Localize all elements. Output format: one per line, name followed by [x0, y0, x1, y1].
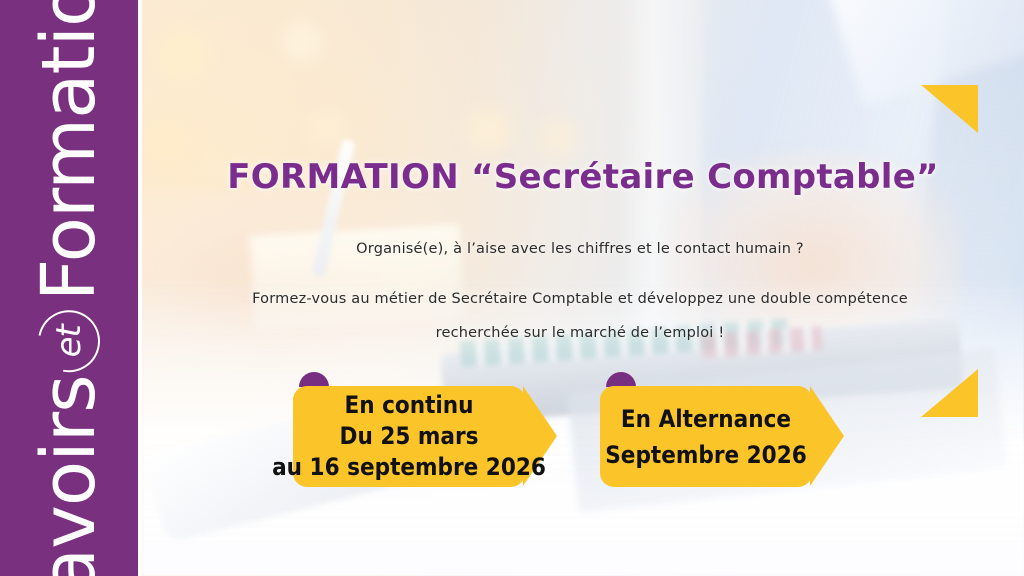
yellow-triangle-top-right-icon — [921, 85, 978, 133]
body-line-1: Organisé(e), à l’aise avec les chiffres … — [190, 232, 970, 266]
yellow-triangle-mid-right-icon — [921, 369, 978, 417]
badge-text: En continu Du 25 mars au 16 septembre 20… — [293, 386, 525, 487]
body-copy: Organisé(e), à l’aise avec les chiffres … — [190, 232, 970, 350]
badge-body: En continu Du 25 mars au 16 septembre 20… — [293, 386, 525, 487]
brand-logo-et-badge: et — [32, 301, 106, 375]
brand-sidebar: Savoirs et Formation — [0, 0, 138, 576]
bokeh-light — [144, 118, 188, 162]
bokeh-light — [538, 118, 578, 158]
badge-line: au 16 septembre 2026 — [272, 452, 546, 483]
badge-line: En continu — [344, 390, 473, 421]
page-title: FORMATION “Secrétaire Comptable” — [142, 157, 1024, 197]
bokeh-light — [310, 110, 346, 146]
brand-logo-formation: Formation — [32, 0, 106, 301]
bokeh-light — [156, 28, 210, 82]
body-line-3: recherchée sur le marché de l’emploi ! — [190, 316, 970, 350]
bokeh-light — [282, 22, 322, 62]
badge-line: Septembre 2026 — [605, 437, 807, 473]
brand-logo: Savoirs et Formation — [32, 0, 106, 576]
badge-line: Du 25 mars — [340, 421, 479, 452]
badge-body: En Alternance Septembre 2026 — [600, 386, 812, 487]
brand-logo-et: et — [32, 307, 106, 375]
sidebar-divider — [138, 0, 142, 576]
badge-line: En Alternance — [621, 401, 791, 437]
brand-logo-savoirs: Savoirs — [32, 375, 106, 576]
badge-arrow-point-icon — [810, 386, 844, 486]
body-line-2: Formez-vous au métier de Secrétaire Comp… — [190, 282, 970, 316]
promo-slide: FORMATION “Secrétaire Comptable” Organis… — [0, 0, 1024, 576]
badge-en-alternance: En Alternance Septembre 2026 — [600, 386, 812, 487]
badge-text: En Alternance Septembre 2026 — [600, 386, 812, 487]
bokeh-light — [466, 108, 510, 152]
badge-en-continu: En continu Du 25 mars au 16 septembre 20… — [293, 386, 525, 487]
body-spacer — [190, 266, 970, 282]
